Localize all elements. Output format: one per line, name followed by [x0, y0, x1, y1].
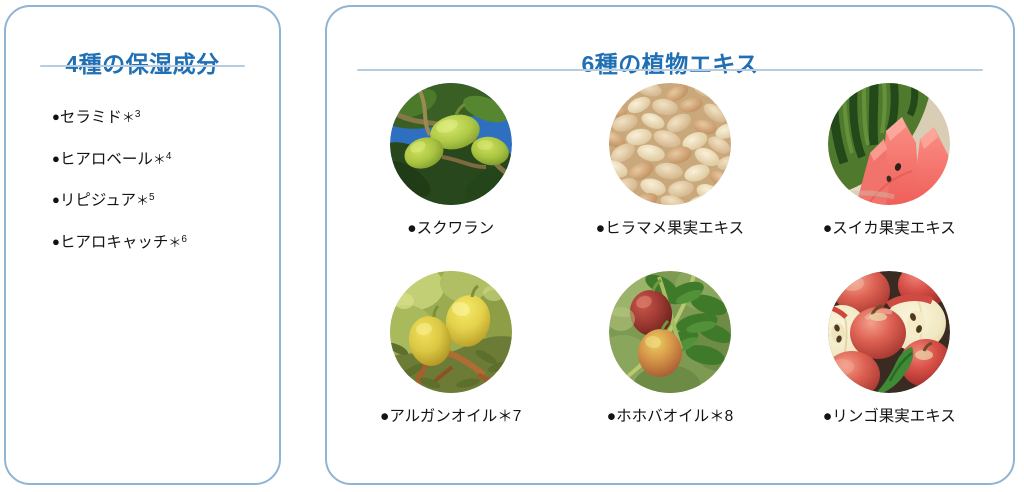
- plant-extract-label: ●アルガンオイル＊7: [380, 409, 521, 425]
- plant-extract-cell: ●リンゴ果実エキス: [780, 271, 999, 459]
- plant-extract-cell: ●スイカ果実エキス: [780, 83, 999, 271]
- left-title-divider: [40, 65, 245, 67]
- moisturizing-ingredient-list: ●セラミド＊3 ●ヒアロベール＊4 ●リピジュア＊5 ●ヒアロキャッチ＊6: [52, 110, 267, 276]
- footnote-number: 5: [149, 192, 155, 203]
- footnote-number: 3: [135, 109, 141, 120]
- moisturizing-ingredients-panel: 4種の保湿成分 ●セラミド＊3 ●ヒアロベール＊4 ●リピジュア＊5 ●ヒアロキ…: [4, 5, 281, 485]
- plant-extract-label: ●リンゴ果実エキス: [823, 409, 956, 425]
- jojoba-berries-photo: [609, 271, 731, 393]
- footnote-star-icon: ＊: [122, 110, 135, 125]
- list-item: ●セラミド＊3: [52, 110, 267, 126]
- argan-fruit-photo: [390, 271, 512, 393]
- plant-extract-cell: ●アルガンオイル＊7: [341, 271, 560, 459]
- ingredient-name: セラミド: [60, 109, 122, 126]
- right-title-divider: [357, 69, 983, 71]
- footnote-star-icon: ＊: [168, 235, 181, 250]
- lentils-photo: [609, 83, 731, 205]
- watermelon-photo: [828, 83, 950, 205]
- plant-extract-grid: ●スクワラン: [341, 83, 999, 459]
- plant-extract-label: ●スイカ果実エキス: [823, 221, 956, 237]
- bullet-icon: ●: [52, 109, 60, 124]
- list-item: ●リピジュア＊5: [52, 193, 267, 209]
- plant-extract-label: ●ホホバオイル＊8: [607, 409, 733, 425]
- footnote-star-icon: ＊: [136, 193, 149, 208]
- plant-extracts-panel: 6種の植物エキス: [325, 5, 1015, 485]
- right-panel-title: 6種の植物エキス: [327, 45, 1013, 79]
- plant-extract-label: ●ヒラマメ果実エキス: [596, 221, 744, 237]
- plant-extract-cell: ●ヒラマメ果実エキス: [560, 83, 779, 271]
- bullet-icon: ●: [52, 234, 60, 249]
- list-item: ●ヒアロキャッチ＊6: [52, 235, 267, 251]
- left-panel-title: 4種の保湿成分: [6, 45, 279, 79]
- footnote-star-icon: ＊: [153, 152, 166, 167]
- olives-photo: [390, 83, 512, 205]
- plant-extract-cell: ●スクワラン: [341, 83, 560, 271]
- list-item: ●ヒアロベール＊4: [52, 152, 267, 168]
- ingredient-name: ヒアロキャッチ: [60, 234, 169, 251]
- apples-photo: [828, 271, 950, 393]
- footnote-number: 4: [166, 151, 172, 162]
- plant-extract-cell: ●ホホバオイル＊8: [560, 271, 779, 459]
- ingredient-name: ヒアロベール: [60, 151, 153, 168]
- ingredient-name: リピジュア: [60, 192, 136, 209]
- bullet-icon: ●: [52, 151, 60, 166]
- plant-extract-label: ●スクワラン: [407, 221, 494, 237]
- bullet-icon: ●: [52, 192, 60, 207]
- ingredients-infographic: 4種の保湿成分 ●セラミド＊3 ●ヒアロベール＊4 ●リピジュア＊5 ●ヒアロキ…: [0, 0, 1024, 492]
- footnote-number: 6: [181, 234, 187, 245]
